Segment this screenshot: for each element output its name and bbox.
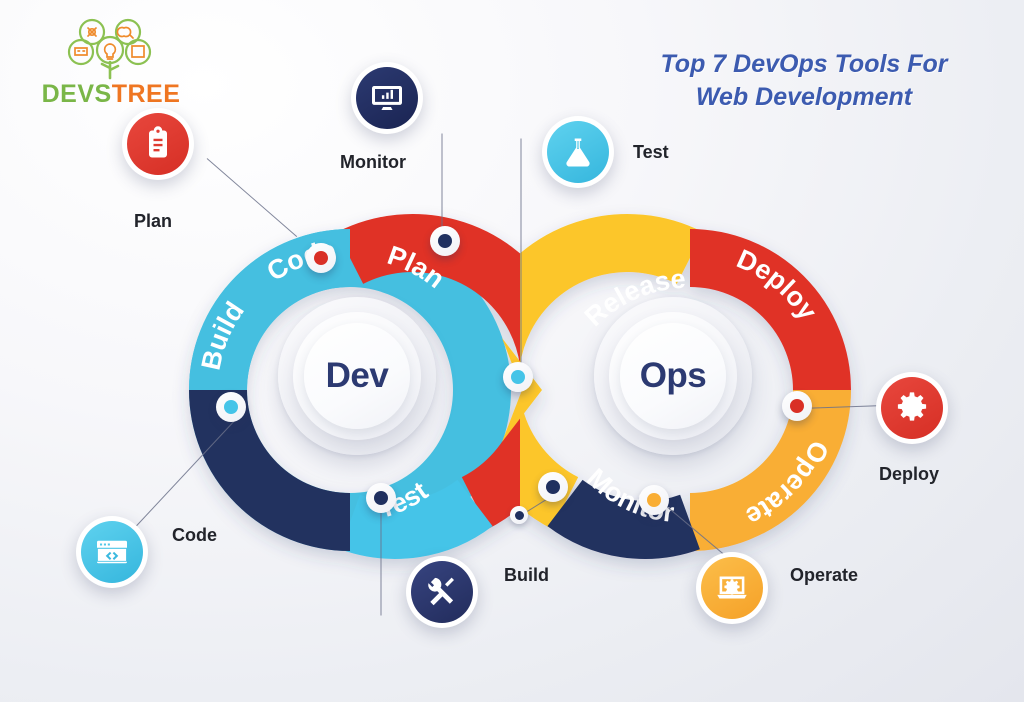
gear-icon [894,390,930,426]
hub-dev-mid: Dev [293,312,421,440]
badge-plan-circle [127,113,189,175]
badge-monitor-circle [356,67,418,129]
brand-name-part1: DEVS [42,80,112,108]
badge-code[interactable] [76,516,148,588]
badge-operate-circle [701,557,763,619]
hub-ops-label: Ops [640,356,707,396]
monitor-chart-icon [369,80,405,116]
badge-test[interactable] [542,116,614,188]
badge-code-circle [81,521,143,583]
page-title-line2: Web Development [614,81,994,114]
page-title: Top 7 DevOps Tools For Web Development [614,48,994,114]
node-test [366,483,396,513]
flask-icon [560,134,596,170]
node-monitor-top [430,226,460,256]
badge-test-circle [547,121,609,183]
code-window-icon [94,534,130,570]
hub-ops-mid: Ops [609,312,737,440]
leader-line-build [381,501,382,616]
badge-operate[interactable] [696,552,768,624]
node-plan [306,243,336,273]
node-build [216,392,246,422]
badge-plan[interactable] [122,108,194,180]
hub-dev-inner: Dev [304,323,410,429]
laptop-gear-icon [714,570,750,606]
brand-logo: DEVSTREE [36,14,186,114]
badge-deploy[interactable] [876,372,948,444]
badge-deploy-circle [881,377,943,439]
tools-icon [424,574,460,610]
hub-dev-label: Dev [326,356,389,396]
badge-plan-label: Plan [134,211,172,232]
brand-name: DEVSTREE [36,80,186,109]
hub-ops-inner: Ops [620,323,726,429]
badge-build-label: Build [504,565,549,586]
node-monitor-b [510,506,528,524]
badge-build-circle [411,561,473,623]
page-title-line1: Top 7 DevOps Tools For [614,48,994,81]
badge-operate-label: Operate [790,565,858,586]
badge-test-label: Test [633,142,669,163]
node-center [503,362,533,392]
badge-monitor[interactable] [351,62,423,134]
badge-build[interactable] [406,556,478,628]
infographic-canvas: DEVSTREE Top 7 DevOps Tools For Web Deve… [0,0,1024,702]
tree-logo-icon [64,14,156,80]
clipboard-icon [140,126,176,162]
leader-line-monitor [442,134,443,237]
node-operate [639,485,669,515]
badge-monitor-label: Monitor [340,152,406,173]
node-deploy [782,391,812,421]
hub-dev: Dev [278,297,436,455]
badge-code-label: Code [172,525,217,546]
badge-deploy-label: Deploy [879,464,939,485]
brand-name-part2: TREE [112,80,181,108]
node-monitor-a [538,472,568,502]
hub-ops: Ops [594,297,752,455]
leader-line-test [521,139,522,377]
